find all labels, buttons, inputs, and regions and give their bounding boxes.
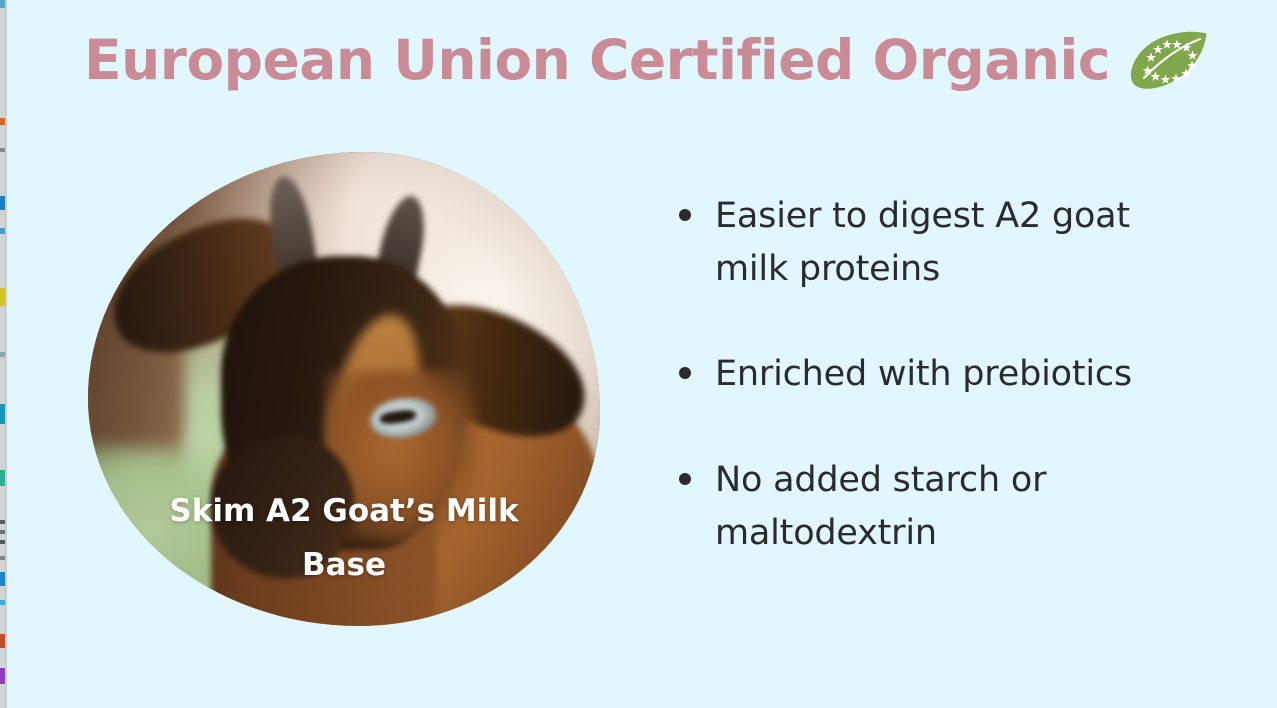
- list-item-label: Enriched with prebiotics: [715, 348, 1132, 401]
- slide-canvas: European Union Certified Organic: [0, 0, 1277, 708]
- slide-title-row: European Union Certified Organic: [84, 18, 1214, 102]
- bullet-dot-icon: [679, 367, 691, 379]
- eu-organic-leaf-icon: [1126, 30, 1212, 92]
- bullet-dot-icon: [679, 209, 691, 221]
- benefits-bullet-list: Easier to digest A2 goat milk proteins E…: [679, 190, 1149, 560]
- bullet-dot-icon: [679, 473, 691, 485]
- page-title: European Union Certified Organic: [84, 33, 1110, 88]
- list-item-label: No added starch or maltodextrin: [715, 454, 1149, 560]
- list-item: Easier to digest A2 goat milk proteins: [679, 190, 1149, 296]
- list-item: No added starch or maltodextrin: [679, 454, 1149, 560]
- filmstrip-divider: [5, 0, 7, 708]
- list-item-label: Easier to digest A2 goat milk proteins: [715, 190, 1149, 296]
- goat-photo-blob[interactable]: Skim A2 Goat’s Milk Base: [88, 152, 600, 626]
- list-item: Enriched with prebiotics: [679, 348, 1149, 401]
- photo-caption: Skim A2 Goat’s Milk Base: [88, 485, 600, 592]
